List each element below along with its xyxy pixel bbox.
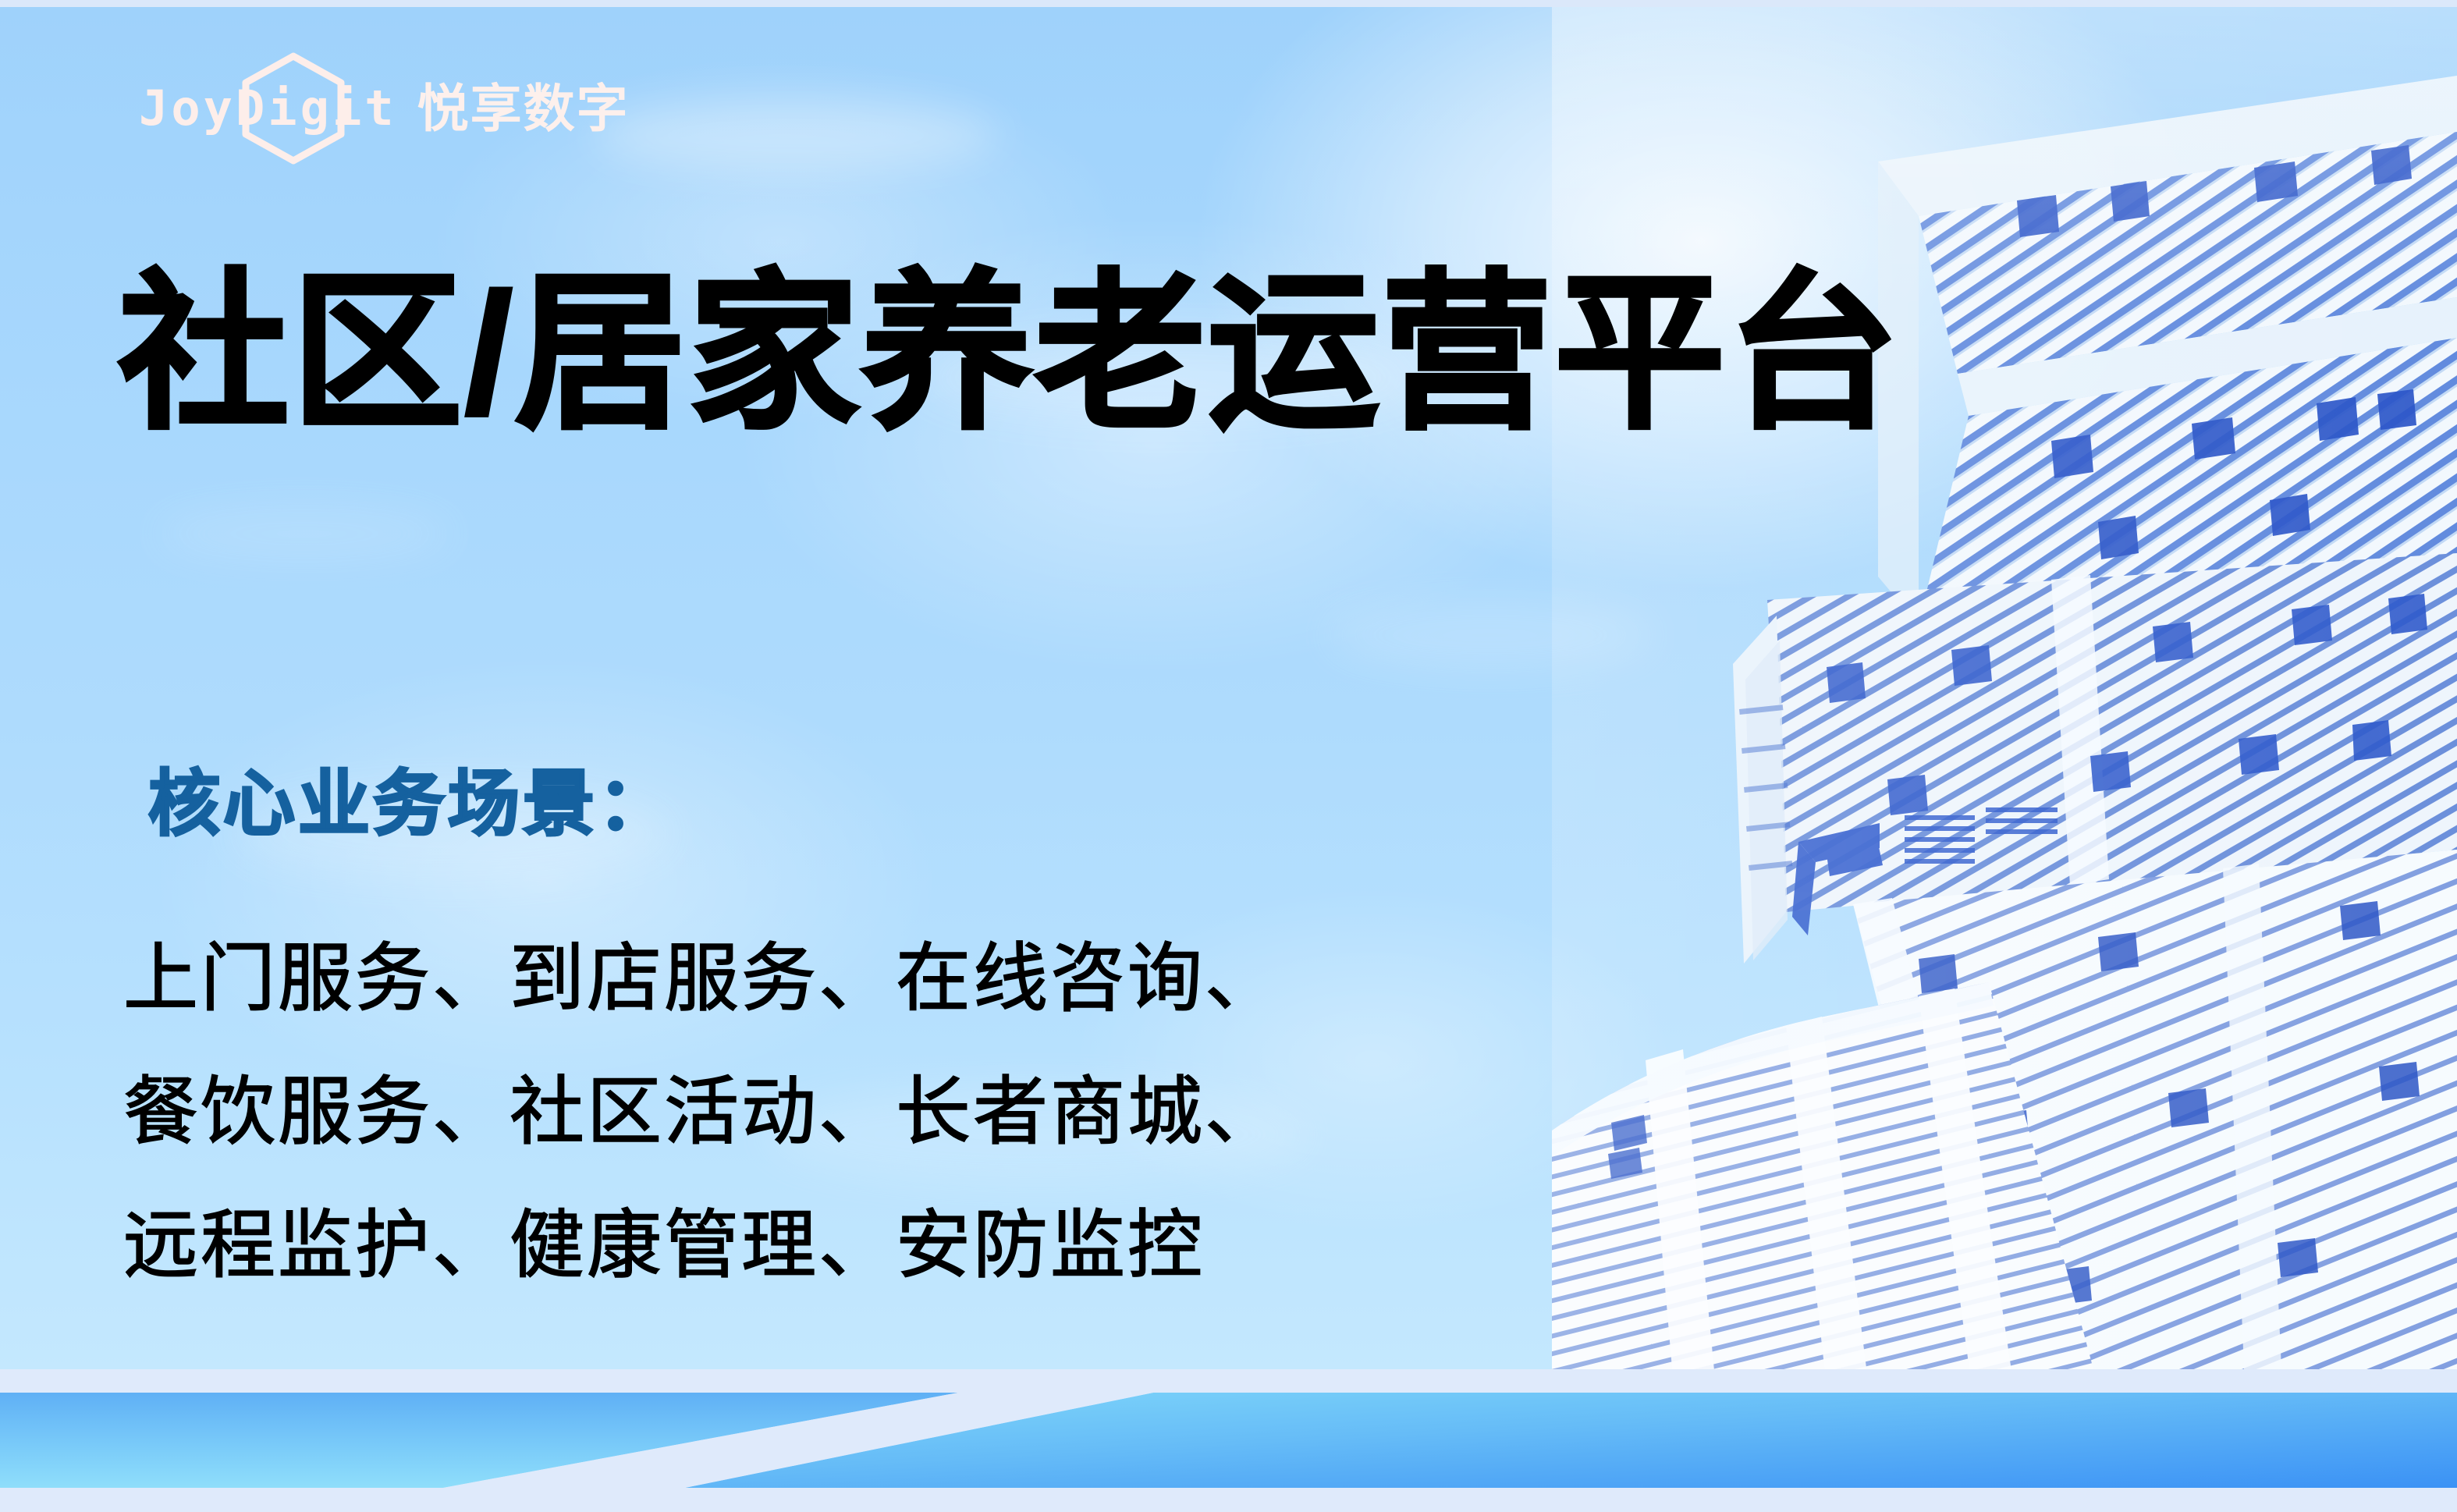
- bottom-decorative-band: [0, 1369, 2457, 1512]
- scenario-line: 远程监护、健康管理、安防监控: [123, 1180, 1282, 1313]
- slide-root: JoyDigit 悦享数字 社区/居家养老运营平台 核心业务场景： 上门服务、到…: [0, 0, 2457, 1512]
- cloud-wisp: [156, 506, 453, 561]
- top-edge-strip: [0, 0, 2457, 7]
- cloud-wisp: [593, 101, 999, 171]
- page-title: 社区/居家养老运营平台: [119, 259, 1901, 449]
- logo-text-chinese: 悦享数字: [417, 83, 630, 134]
- core-scenarios-list: 上门服务、到店服务、在线咨询、 餐饮服务、社区活动、长者商城、 远程监护、健康管…: [123, 913, 1282, 1313]
- brand-logo: JoyDigit 悦享数字: [139, 75, 630, 142]
- scenario-line: 餐饮服务、社区活动、长者商城、: [123, 1046, 1282, 1180]
- scenario-line: 上门服务、到店服务、在线咨询、: [123, 913, 1282, 1046]
- section-heading-core-scenarios: 核心业务场景：: [148, 768, 673, 840]
- logo-text-english: JoyDigit: [139, 84, 397, 133]
- cloud-wisp: [1326, 600, 1654, 670]
